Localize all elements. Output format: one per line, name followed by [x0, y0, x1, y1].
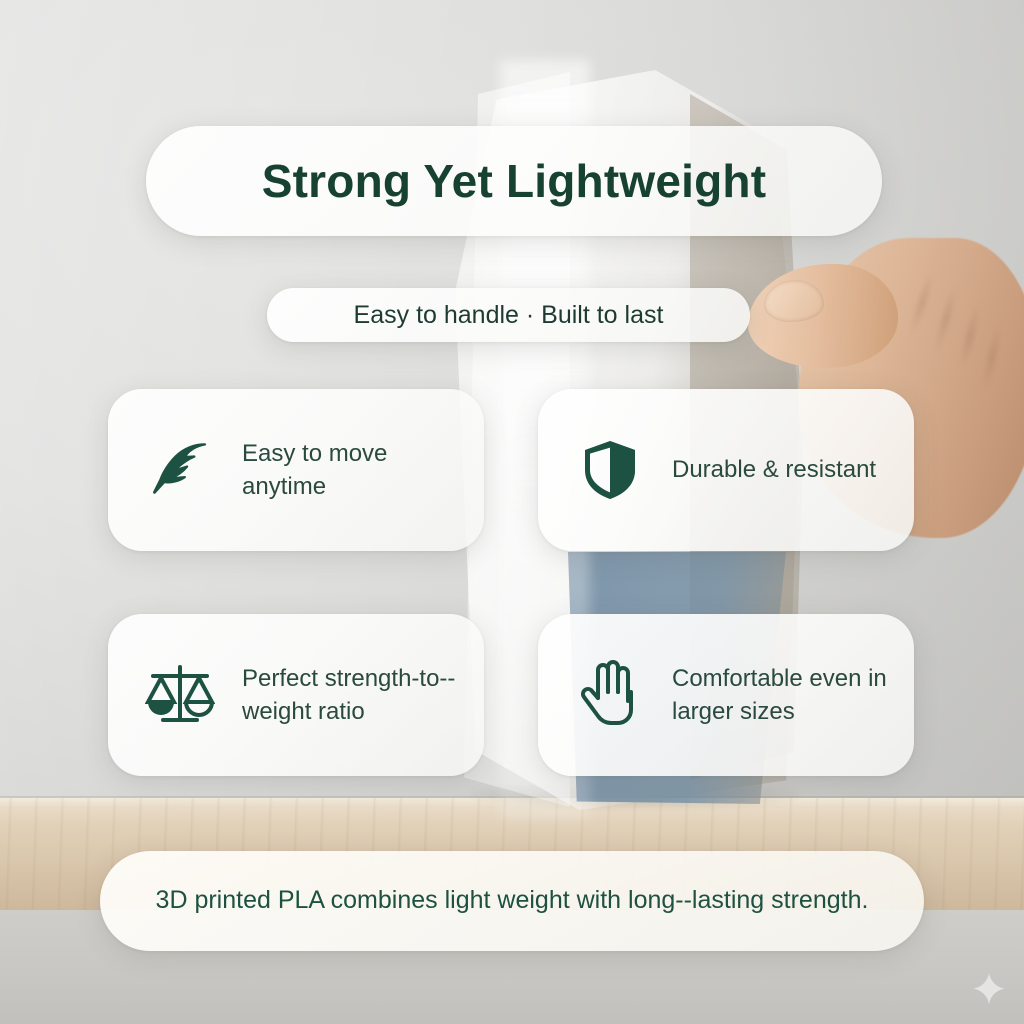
feather-icon — [144, 434, 216, 506]
feature-card-easy-to-move[interactable]: Easy to move anytime — [108, 389, 484, 551]
feature-card-strength-to-weight[interactable]: Perfect strength-to--weight ratio — [108, 614, 484, 776]
feature-card-comfortable[interactable]: Comfortable even in larger sizes — [538, 614, 914, 776]
page-title: Strong Yet Lightweight — [262, 154, 766, 208]
page-subtitle: Easy to handle · Built to last — [354, 301, 664, 330]
hand-thumbnail — [764, 280, 824, 322]
footer-note: 3D printed PLA combines light weight wit… — [112, 883, 913, 919]
title-card: Strong Yet Lightweight — [146, 126, 882, 236]
feature-label: Durable & resistant — [672, 453, 876, 486]
hand-icon — [574, 659, 646, 731]
subtitle-card: Easy to handle · Built to last — [267, 288, 750, 342]
shield-icon — [574, 434, 646, 506]
feature-label: Easy to move anytime — [242, 437, 474, 503]
feature-card-durable[interactable]: Durable & resistant — [538, 389, 914, 551]
scales-icon — [144, 659, 216, 731]
footer-note-card: 3D printed PLA combines light weight wit… — [100, 851, 924, 951]
sparkle-icon — [972, 972, 1006, 1006]
feature-label: Perfect strength-to--weight ratio — [242, 662, 474, 728]
promo-graphic: Strong Yet Lightweight Easy to handle · … — [0, 0, 1024, 1024]
feature-label: Comfortable even in larger sizes — [672, 662, 904, 728]
